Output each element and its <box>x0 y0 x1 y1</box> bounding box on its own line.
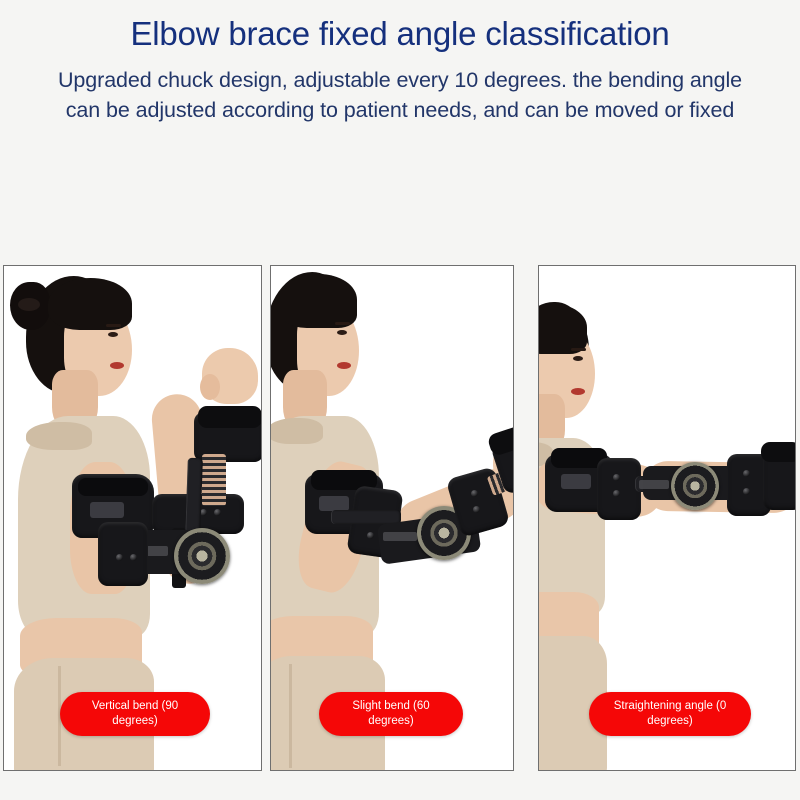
brace-mid-cuff <box>597 458 641 520</box>
brace-screw <box>471 490 478 497</box>
brace-wrist-pad <box>761 442 795 462</box>
brace-screw <box>214 509 221 516</box>
brace-upper-cuff-highlight <box>90 502 124 518</box>
brace-hinge-dial[interactable] <box>671 462 719 510</box>
brace-screw <box>116 554 123 561</box>
angle-badge: Vertical bend (90 degrees) <box>60 692 210 736</box>
brace-screw <box>367 532 374 539</box>
lips <box>571 388 585 395</box>
hair-fringe <box>277 274 357 328</box>
brace-screw <box>743 488 750 495</box>
hair-tie <box>18 298 40 311</box>
angle-badge: Straightening angle (0 degrees) <box>589 692 751 736</box>
brace-screw <box>613 490 620 497</box>
brace-screw <box>130 554 137 561</box>
brace-connector-bar <box>331 510 401 524</box>
photo-slight-bend: Slight bend (60 degrees) <box>271 266 513 770</box>
eyebrow <box>571 348 586 351</box>
angle-badge: Slight bend (60 degrees) <box>319 692 463 736</box>
photo-vertical-bend: Vertical bend (90 degrees) <box>4 266 261 770</box>
brace-screw <box>473 506 480 513</box>
brace-telescoping-rack <box>202 454 226 506</box>
page-subtitle: Upgraded chuck design, adjustable every … <box>20 55 780 126</box>
panel-straightening-angle[interactable]: Straightening angle (0 degrees) <box>538 265 796 771</box>
brace-upper-cuff-highlight <box>561 474 591 489</box>
eye <box>337 330 347 335</box>
brace-wrist-pad <box>198 406 261 428</box>
lips <box>337 362 351 369</box>
photo-straightening-angle: Straightening angle (0 degrees) <box>539 266 795 770</box>
brace-upper-cuff-pad <box>78 478 148 496</box>
brace-screw <box>743 470 750 477</box>
thumb <box>200 374 220 400</box>
hair-fringe <box>48 278 132 330</box>
brace-screw <box>613 474 620 481</box>
lips <box>110 362 124 369</box>
brace-lower-cuff <box>98 522 148 586</box>
brace-hinge-dial[interactable] <box>174 528 230 584</box>
shoulder-strap <box>26 422 92 450</box>
eye <box>573 356 583 361</box>
brace-upper-cuff-highlight <box>319 496 349 511</box>
eyebrow <box>335 322 350 325</box>
panel-vertical-bend[interactable]: Vertical bend (90 degrees) <box>3 265 262 771</box>
brace-hinge-lock-icons <box>639 480 669 489</box>
shoulder-strap <box>271 418 323 444</box>
eye <box>108 332 118 337</box>
panel-slight-bend[interactable]: Slight bend (60 degrees) <box>270 265 514 771</box>
brace-hinge-lock-icons <box>383 532 417 541</box>
page-header: Elbow brace fixed angle classification U… <box>0 0 800 126</box>
eyebrow <box>106 324 121 327</box>
page-title: Elbow brace fixed angle classification <box>20 14 780 55</box>
pants-fold <box>289 664 292 768</box>
panel-row: Vertical bend (90 degrees) <box>0 265 800 771</box>
hair-fringe <box>539 304 587 354</box>
